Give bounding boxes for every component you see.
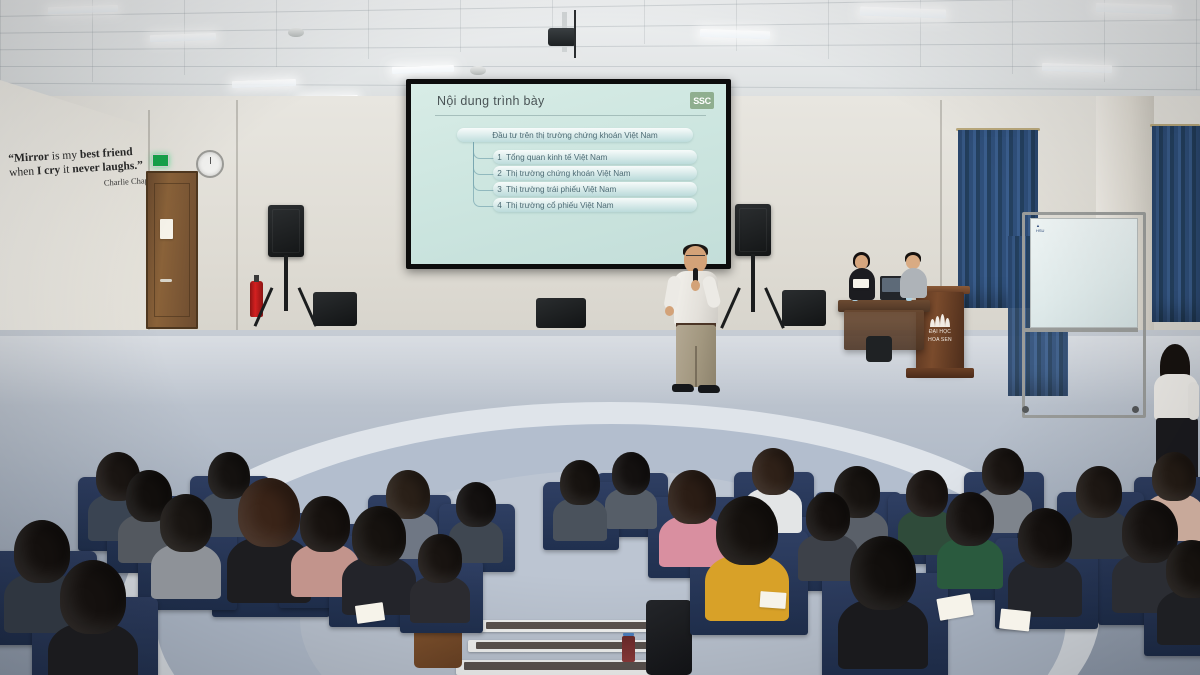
ssc-logo-icon: SSC bbox=[690, 92, 714, 109]
audience-member bbox=[1166, 540, 1200, 598]
quote-line1-bold-b: best friend bbox=[80, 146, 133, 161]
slide-connector-4 bbox=[473, 142, 494, 207]
door-panel bbox=[154, 183, 190, 317]
slide-item-2: 2 Thị trường chứng khoán Việt Nam bbox=[493, 166, 697, 180]
audience-member bbox=[560, 460, 600, 505]
slide-title-rule bbox=[435, 115, 706, 116]
ceiling-light-panel bbox=[232, 79, 296, 88]
presenter-right-hand bbox=[691, 280, 700, 291]
audience-notebook bbox=[355, 602, 385, 624]
pa-speaker-right bbox=[735, 204, 771, 256]
ceiling-tile-grid bbox=[1196, 0, 1197, 90]
audience-member bbox=[668, 470, 716, 524]
speaker-stand-left-pole bbox=[284, 255, 288, 311]
quote-line1-mid: is my bbox=[49, 149, 81, 163]
hoa-sen-lotus-icon bbox=[929, 314, 951, 327]
ceiling-light-panel bbox=[48, 5, 118, 14]
ceiling-tile-line bbox=[0, 42, 1200, 50]
slide-title: Nội dung trình bày bbox=[437, 94, 545, 108]
ceiling-light-panel bbox=[392, 65, 454, 74]
slide-heading-bar: Đầu tư trên thị trường chứng khoán Việt … bbox=[457, 128, 693, 142]
slide-item-3: 3 Thị trường trái phiếu Việt Nam bbox=[493, 182, 697, 196]
moderator-head bbox=[855, 255, 868, 269]
audience-member-head bbox=[60, 560, 126, 634]
audience-member-head bbox=[946, 492, 994, 546]
ceiling-light-panel bbox=[1042, 63, 1112, 73]
audience-member-head bbox=[560, 460, 600, 505]
audience-member-head bbox=[906, 470, 948, 517]
audience-member-head bbox=[418, 534, 462, 583]
door-handle[interactable] bbox=[160, 279, 172, 282]
slide-item-3-label: Thị trường trái phiếu Việt Nam bbox=[506, 185, 616, 194]
technician-torso bbox=[900, 268, 927, 298]
audience-member bbox=[850, 536, 916, 610]
audience-member bbox=[300, 496, 350, 552]
projector-cable bbox=[574, 10, 576, 58]
speaker-stand-right-pole bbox=[751, 254, 755, 312]
ceiling-light-panel bbox=[860, 7, 946, 19]
stair-tread-mid bbox=[476, 642, 666, 649]
curtain-right bbox=[1152, 126, 1200, 322]
audience-member bbox=[352, 506, 406, 566]
presenter bbox=[660, 246, 730, 406]
slide-item-1-label: Tổng quan kinh tế Việt Nam bbox=[506, 153, 607, 162]
presenter-left-hand bbox=[665, 306, 674, 316]
lecture-hall-photo: “Mirror is my best friend when I cry it … bbox=[0, 0, 1200, 675]
subwoofer-right bbox=[782, 290, 826, 326]
audience-member-head bbox=[1152, 452, 1196, 501]
audience-member-head bbox=[456, 482, 496, 527]
audience-member bbox=[906, 470, 948, 517]
whiteboard-caster-right bbox=[1132, 406, 1139, 413]
side-door[interactable] bbox=[146, 171, 198, 329]
mobile-whiteboard[interactable]: ▲HSU bbox=[1030, 218, 1138, 328]
stage-monitor-center bbox=[536, 298, 586, 328]
panel-person-moderator bbox=[848, 252, 876, 302]
audience-member-head bbox=[806, 492, 850, 541]
audience-member-head bbox=[752, 448, 794, 495]
ceiling-tile-line bbox=[0, 19, 1200, 35]
audience-member bbox=[946, 492, 994, 546]
wall-quote: “Mirror is my best friend when I cry it … bbox=[8, 144, 158, 193]
slide-item-1: 1 Tổng quan kinh tế Việt Nam bbox=[493, 150, 697, 164]
ceiling-tile-grid bbox=[736, 0, 737, 51]
office-chair bbox=[866, 336, 892, 362]
audience-member-head bbox=[238, 478, 300, 547]
presenter-shoe-left bbox=[672, 384, 694, 392]
quote-line2-bold-a: I cry bbox=[37, 164, 61, 177]
slide-item-4-label: Thị trường cổ phiếu Việt Nam bbox=[506, 201, 614, 210]
presenter-shoe-right bbox=[698, 385, 720, 393]
audience-member bbox=[752, 448, 794, 495]
quote-line2-bold-b: never laughs.” bbox=[72, 160, 143, 176]
audience-member bbox=[418, 534, 462, 583]
audience-member-head bbox=[352, 506, 406, 566]
whiteboard-crossbar bbox=[1024, 328, 1138, 332]
ceiling-tile-grid bbox=[0, 0, 1, 90]
audience-member-head bbox=[982, 448, 1024, 495]
audience-member-head bbox=[1076, 466, 1122, 518]
quote-line2-a: when bbox=[9, 166, 37, 180]
door-notice bbox=[160, 219, 173, 239]
panel-person-technician bbox=[900, 252, 928, 300]
ceiling-light-panel bbox=[150, 33, 216, 42]
stair-tread-top bbox=[486, 622, 656, 629]
audience-member-head bbox=[668, 470, 716, 524]
audience-member-head bbox=[716, 496, 778, 565]
audience-member-head bbox=[160, 494, 212, 552]
backpack-on-stairs bbox=[646, 600, 692, 675]
audience-member bbox=[60, 560, 126, 634]
audience-member bbox=[1152, 452, 1196, 501]
whiteboard-caster-left bbox=[1022, 406, 1029, 413]
ceiling-tile-grid bbox=[276, 0, 277, 67]
quote-line1-bold-a: “Mirror bbox=[8, 151, 49, 165]
slide-item-1-number: 1 bbox=[493, 153, 506, 162]
slide-surface: Nội dung trình bày SSC Đầu tư trên thị t… bbox=[411, 84, 726, 264]
slide-heading-text: Đầu tư trên thị trường chứng khoán Việt … bbox=[492, 131, 657, 140]
audience-member-head bbox=[300, 496, 350, 552]
slide-item-3-number: 3 bbox=[493, 185, 506, 194]
ceiling-tile-line bbox=[0, 0, 1200, 18]
whiteboard-logo-icon: ▲HSU bbox=[1036, 223, 1044, 233]
audience-member-head bbox=[612, 452, 650, 495]
audience-member bbox=[238, 478, 300, 547]
ceiling-tile-line bbox=[0, 66, 1200, 67]
slide-item-2-number: 2 bbox=[493, 169, 506, 178]
ceiling-tile-grid bbox=[368, 0, 369, 59]
projection-screen: Nội dung trình bày SSC Đầu tư trên thị t… bbox=[406, 79, 731, 269]
slide-item-4-number: 4 bbox=[493, 201, 506, 210]
audience-member bbox=[716, 496, 778, 565]
slide-item-4: 4 Thị trường cổ phiếu Việt Nam bbox=[493, 198, 697, 212]
wall-seam-b bbox=[236, 100, 238, 350]
audience-member-head bbox=[850, 536, 916, 610]
audience-member-head bbox=[1018, 508, 1072, 568]
ceiling-light-panel bbox=[700, 29, 770, 39]
audience-member bbox=[1076, 466, 1122, 518]
audience-member bbox=[1018, 508, 1072, 568]
projector bbox=[548, 28, 576, 46]
audience-member bbox=[160, 494, 212, 552]
floor-water-bottle bbox=[622, 636, 635, 662]
ceiling-tile-grid bbox=[644, 0, 645, 44]
smoke-detector-icon bbox=[470, 66, 486, 75]
technician-head bbox=[906, 255, 920, 269]
ceiling-light-panel bbox=[1096, 3, 1172, 15]
audience-member-head bbox=[1166, 540, 1200, 598]
pa-speaker-left bbox=[268, 205, 304, 257]
ceiling-tile-grid bbox=[828, 0, 829, 59]
staff-arm bbox=[1188, 382, 1199, 420]
podium-base bbox=[906, 368, 974, 378]
wall-clock bbox=[196, 150, 224, 178]
audience-member bbox=[612, 452, 650, 495]
audience-member bbox=[456, 482, 496, 527]
emergency-exit-sign-icon bbox=[152, 154, 169, 167]
audience-member bbox=[806, 492, 850, 541]
quote-line2-mid: it bbox=[60, 164, 73, 177]
presenter-glasses-icon bbox=[686, 255, 705, 260]
moderator-notes bbox=[853, 279, 869, 288]
audience-notebook bbox=[999, 608, 1031, 631]
subwoofer-left bbox=[313, 292, 357, 326]
audience-notebook bbox=[759, 591, 786, 609]
ceiling-tile-grid bbox=[460, 0, 461, 52]
presenter-leg-split bbox=[695, 346, 697, 387]
slide-item-2-label: Thị trường chứng khoán Việt Nam bbox=[506, 169, 631, 178]
audience-member bbox=[982, 448, 1024, 495]
smoke-detector-icon bbox=[288, 28, 304, 37]
stair-tread-bottom bbox=[464, 662, 674, 670]
ceiling-tile-grid bbox=[1012, 0, 1013, 74]
